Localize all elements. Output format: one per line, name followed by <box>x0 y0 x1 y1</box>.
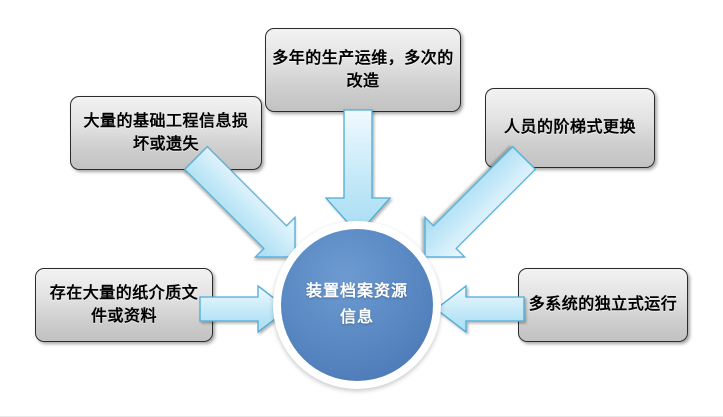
center-circle-label: 装置档案资源信息 <box>303 279 411 332</box>
node-upper-left-label: 大量的基础工程信息损坏或遗失 <box>77 110 255 156</box>
node-top-label: 多年的生产运维，多次的改造 <box>272 47 454 93</box>
diagram-canvas: 多年的生产运维，多次的改造 大量的基础工程信息损坏或遗失 人员的阶梯式更换 存在… <box>0 0 723 417</box>
center-circle[interactable]: 装置档案资源信息 <box>281 229 433 381</box>
arrow-down-right-icon <box>196 158 308 262</box>
node-top[interactable]: 多年的生产运维，多次的改造 <box>265 28 461 112</box>
arrow-left-icon <box>434 286 524 332</box>
arrow-down-icon <box>322 110 394 236</box>
node-upper-right-label: 人员的阶梯式更换 <box>504 116 636 139</box>
node-bottom-left[interactable]: 存在大量的纸介质文件或资料 <box>35 268 213 342</box>
node-bottom-right[interactable]: 多系统的独立式运行 <box>518 268 688 342</box>
arrow-down-left-icon <box>412 158 524 262</box>
node-bottom-right-label: 多系统的独立式运行 <box>529 293 678 316</box>
node-bottom-left-label: 存在大量的纸介质文件或资料 <box>42 282 206 328</box>
